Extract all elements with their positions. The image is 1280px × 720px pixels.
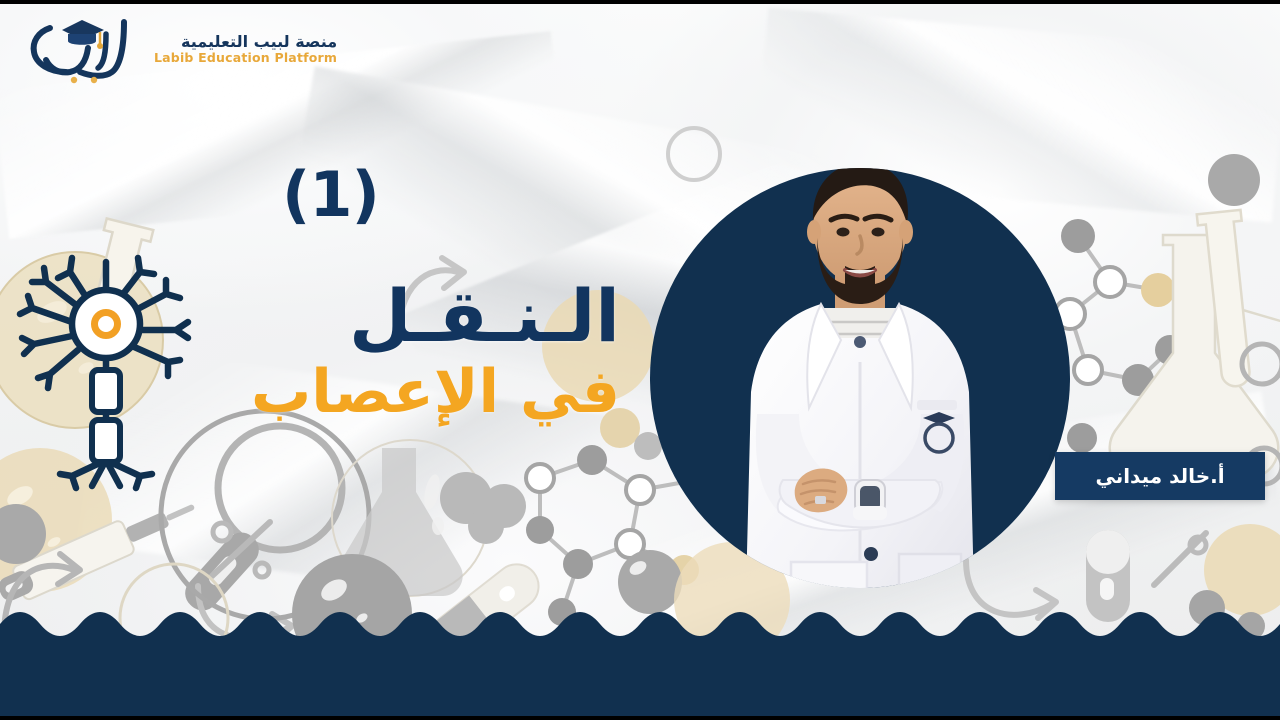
- instructor-portrait: [650, 168, 1070, 588]
- lesson-title-line1: الـنـقـل: [251, 280, 620, 353]
- lesson-title: الـنـقـل في الإعصاب: [251, 280, 620, 425]
- portrait-clip: [650, 168, 1070, 588]
- portrait-figure: [695, 168, 1025, 588]
- slide-canvas: منصة لبيب التعليمية Labib Education Plat…: [0, 0, 1280, 720]
- wave-divider: [0, 580, 1280, 720]
- brand-header[interactable]: منصة لبيب التعليمية Labib Education Plat…: [28, 14, 337, 84]
- letterbox-bottom: [0, 716, 1280, 720]
- letterbox-top: [0, 0, 1280, 4]
- brand-name-ar: منصة لبيب التعليمية: [181, 33, 337, 51]
- neuron-cell-icon: [10, 238, 200, 498]
- brand-name-en: Labib Education Platform: [154, 51, 337, 65]
- presenter-name-banner: أ.خالد ميداني: [1055, 452, 1265, 500]
- graduation-cap-icon: [28, 14, 136, 84]
- lesson-title-line2: في الإعصاب: [251, 359, 620, 425]
- labib-logo-icon[interactable]: [28, 14, 136, 84]
- lesson-number: (1): [282, 158, 379, 231]
- brand-wordmark: منصة لبيب التعليمية Labib Education Plat…: [154, 33, 337, 65]
- presenter-name: أ.خالد ميداني: [1095, 464, 1224, 488]
